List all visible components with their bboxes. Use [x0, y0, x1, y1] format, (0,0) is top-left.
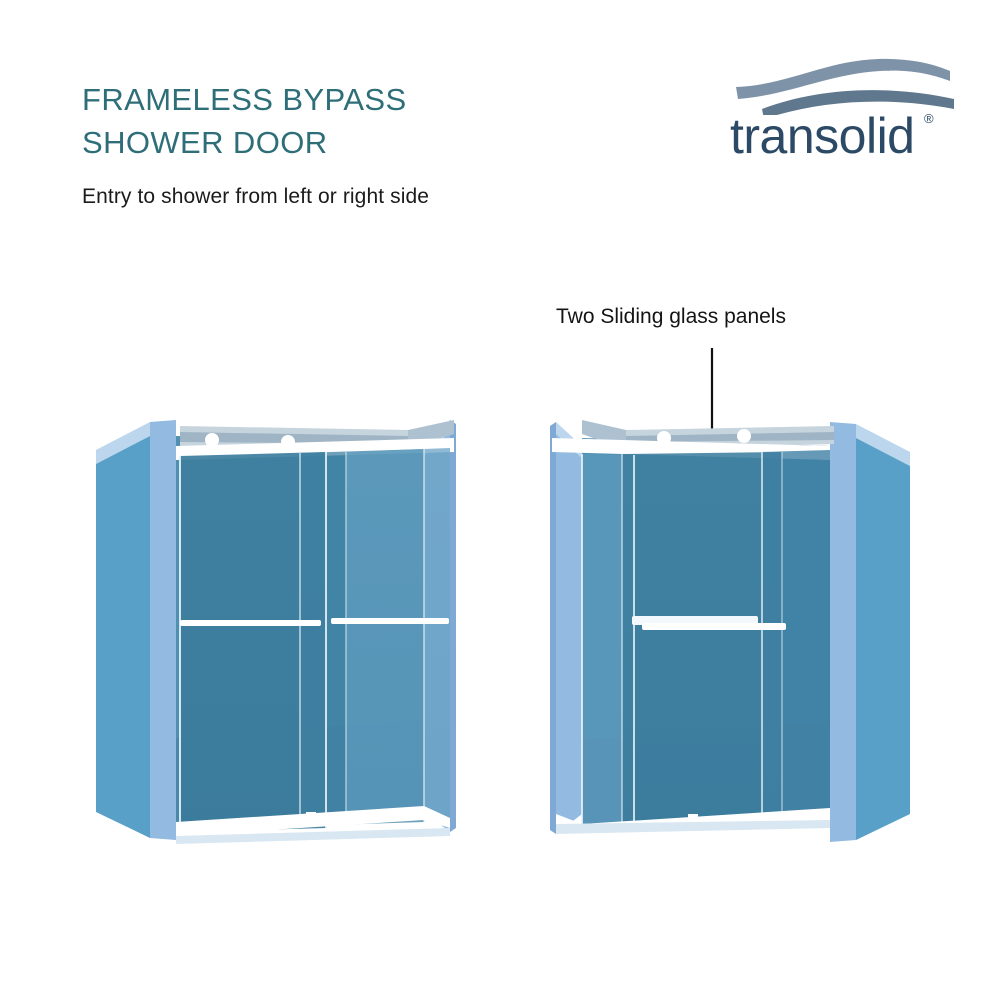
roller-wheel	[737, 429, 751, 443]
side-wall-left	[550, 422, 582, 834]
sliding-glass-panel	[346, 448, 450, 824]
transolid-wave-icon	[728, 55, 968, 115]
registered-trademark-icon: ®	[924, 111, 934, 126]
brand-logo: transolid ®	[728, 55, 968, 170]
sliding-glass-panel	[762, 450, 830, 824]
side-wall	[830, 422, 910, 842]
logo-wordmark: transolid	[730, 107, 915, 165]
infographic-page: FRAMELESS BYPASS SHOWER DOOR Entry to sh…	[0, 0, 1000, 1000]
callout-label-sliding-panels: Two Sliding glass panels	[556, 305, 786, 329]
side-wall	[96, 420, 176, 840]
page-subtitle: Entry to shower from left or right side	[82, 185, 429, 209]
shower-enclosure-left-entry	[88, 408, 458, 858]
page-title: FRAMELESS BYPASS SHOWER DOOR	[82, 78, 407, 164]
shower-enclosure-right-entry	[538, 408, 918, 863]
sliding-glass-panel	[622, 452, 782, 828]
